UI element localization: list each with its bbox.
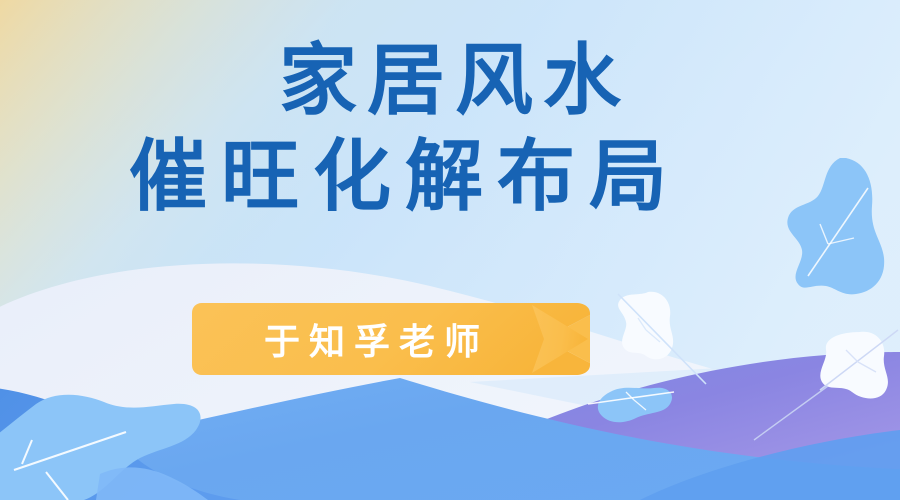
title-line-2: 催旺化解布局 [0,138,900,216]
presenter-badge: 于知孚老师 [192,303,592,375]
presenter-badge-label: 于知孚老师 [192,303,552,375]
title-line-1: 家居风水 [0,42,900,120]
poster-title: 家居风水 催旺化解布局 [0,42,900,216]
poster-canvas: 家居风水 催旺化解布局 于知孚老师 [0,0,900,500]
